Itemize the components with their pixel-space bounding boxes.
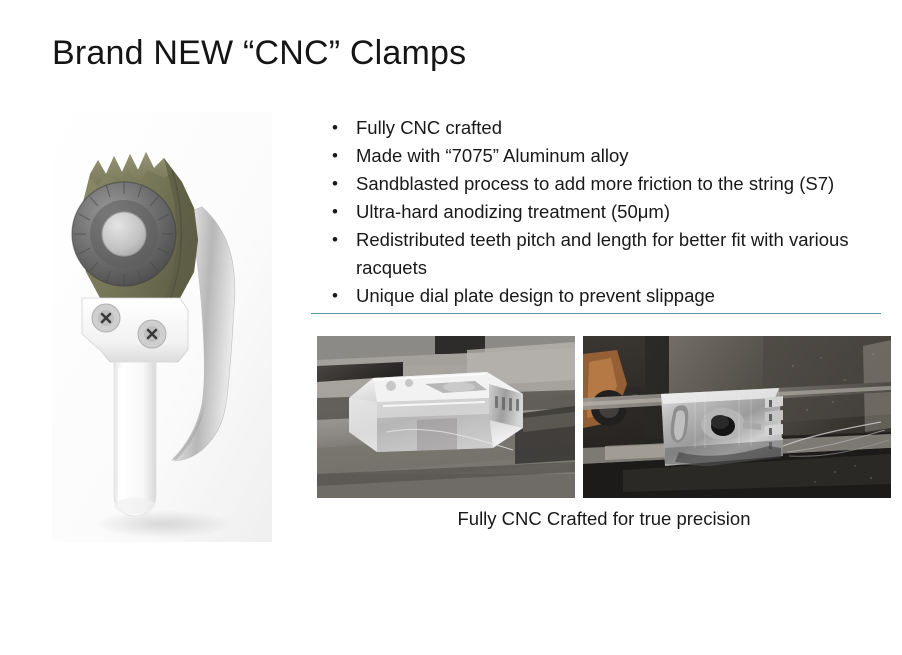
list-item-label: Redistributed teeth pitch and length for… [356, 226, 892, 282]
screw-hole-2 [138, 320, 166, 348]
bullet-marker-icon: • [332, 198, 356, 226]
clamp-render-svg [52, 112, 272, 542]
bullet-marker-icon: • [332, 282, 356, 310]
slide-canvas: Brand NEW “CNC” Clamps [0, 0, 902, 655]
product-image [52, 112, 272, 542]
page-title: Brand NEW “CNC” Clamps [52, 34, 466, 73]
screw-hole-1 [92, 304, 120, 332]
list-item: • Redistributed teeth pitch and length f… [332, 226, 892, 282]
bullet-marker-icon: • [332, 142, 356, 170]
list-item: • Fully CNC crafted [332, 114, 892, 142]
section-divider [311, 313, 881, 314]
bullet-marker-icon: • [332, 226, 356, 254]
photo-cnc-machining-right [583, 336, 891, 498]
photo-left-graphic [317, 336, 575, 498]
photo-cnc-machining-left [317, 336, 575, 498]
list-item-label: Fully CNC crafted [356, 114, 892, 142]
photo-right-graphic [583, 336, 891, 498]
list-item: • Made with “7075” Aluminum alloy [332, 142, 892, 170]
list-item-label: Made with “7075” Aluminum alloy [356, 142, 892, 170]
list-item: • Ultra-hard anodizing treatment (50μm) [332, 198, 892, 226]
list-item-label: Unique dial plate design to prevent slip… [356, 282, 892, 310]
feature-bullet-list: • Fully CNC crafted • Made with “7075” A… [332, 114, 892, 310]
bullet-marker-icon: • [332, 114, 356, 142]
photo-row [317, 336, 891, 498]
list-item-label: Sandblasted process to add more friction… [356, 170, 892, 198]
list-item-label: Ultra-hard anodizing treatment (50μm) [356, 198, 892, 226]
list-item: • Sandblasted process to add more fricti… [332, 170, 892, 198]
bullet-marker-icon: • [332, 170, 356, 198]
list-item: • Unique dial plate design to prevent sl… [332, 282, 892, 310]
photo-caption: Fully CNC Crafted for true precision [317, 508, 891, 530]
